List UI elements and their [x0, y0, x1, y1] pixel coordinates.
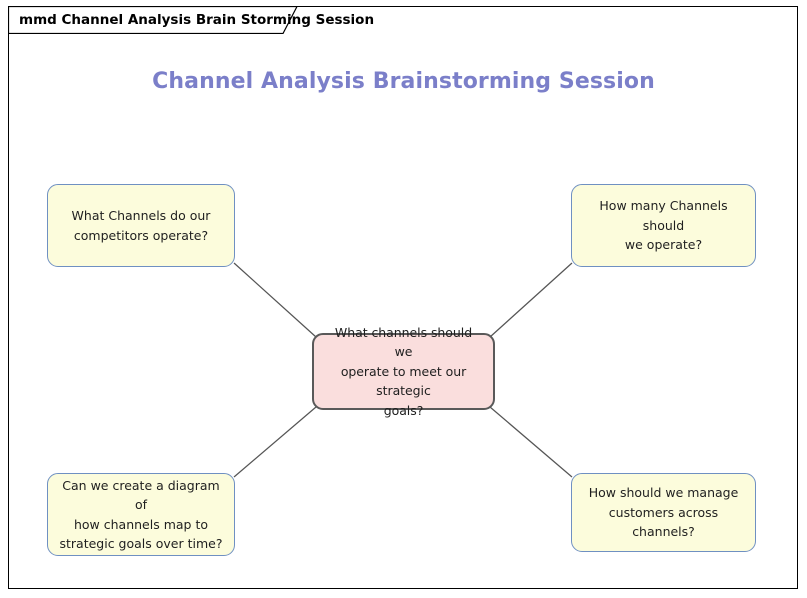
node-manage-customers[interactable]: How should we manage customers across ch… — [571, 473, 756, 552]
node-central-question[interactable]: What channels should we operate to meet … — [312, 333, 495, 410]
diagram-tab-label: mmd Channel Analysis Brain Storming Sess… — [19, 6, 374, 34]
page-title: Channel Analysis Brainstorming Session — [0, 69, 807, 94]
node-competitors-label: What Channels do our competitors operate… — [61, 206, 222, 245]
node-manage-customers-label: How should we manage customers across ch… — [572, 483, 755, 541]
node-central-question-label: What channels should we operate to meet … — [314, 323, 493, 420]
node-how-many-label: How many Channels should we operate? — [572, 196, 755, 254]
node-competitors[interactable]: What Channels do our competitors operate… — [47, 184, 235, 267]
node-diagram-map-label: Can we create a diagram of how channels … — [48, 476, 234, 554]
node-diagram-map[interactable]: Can we create a diagram of how channels … — [47, 473, 235, 556]
node-how-many[interactable]: How many Channels should we operate? — [571, 184, 756, 267]
